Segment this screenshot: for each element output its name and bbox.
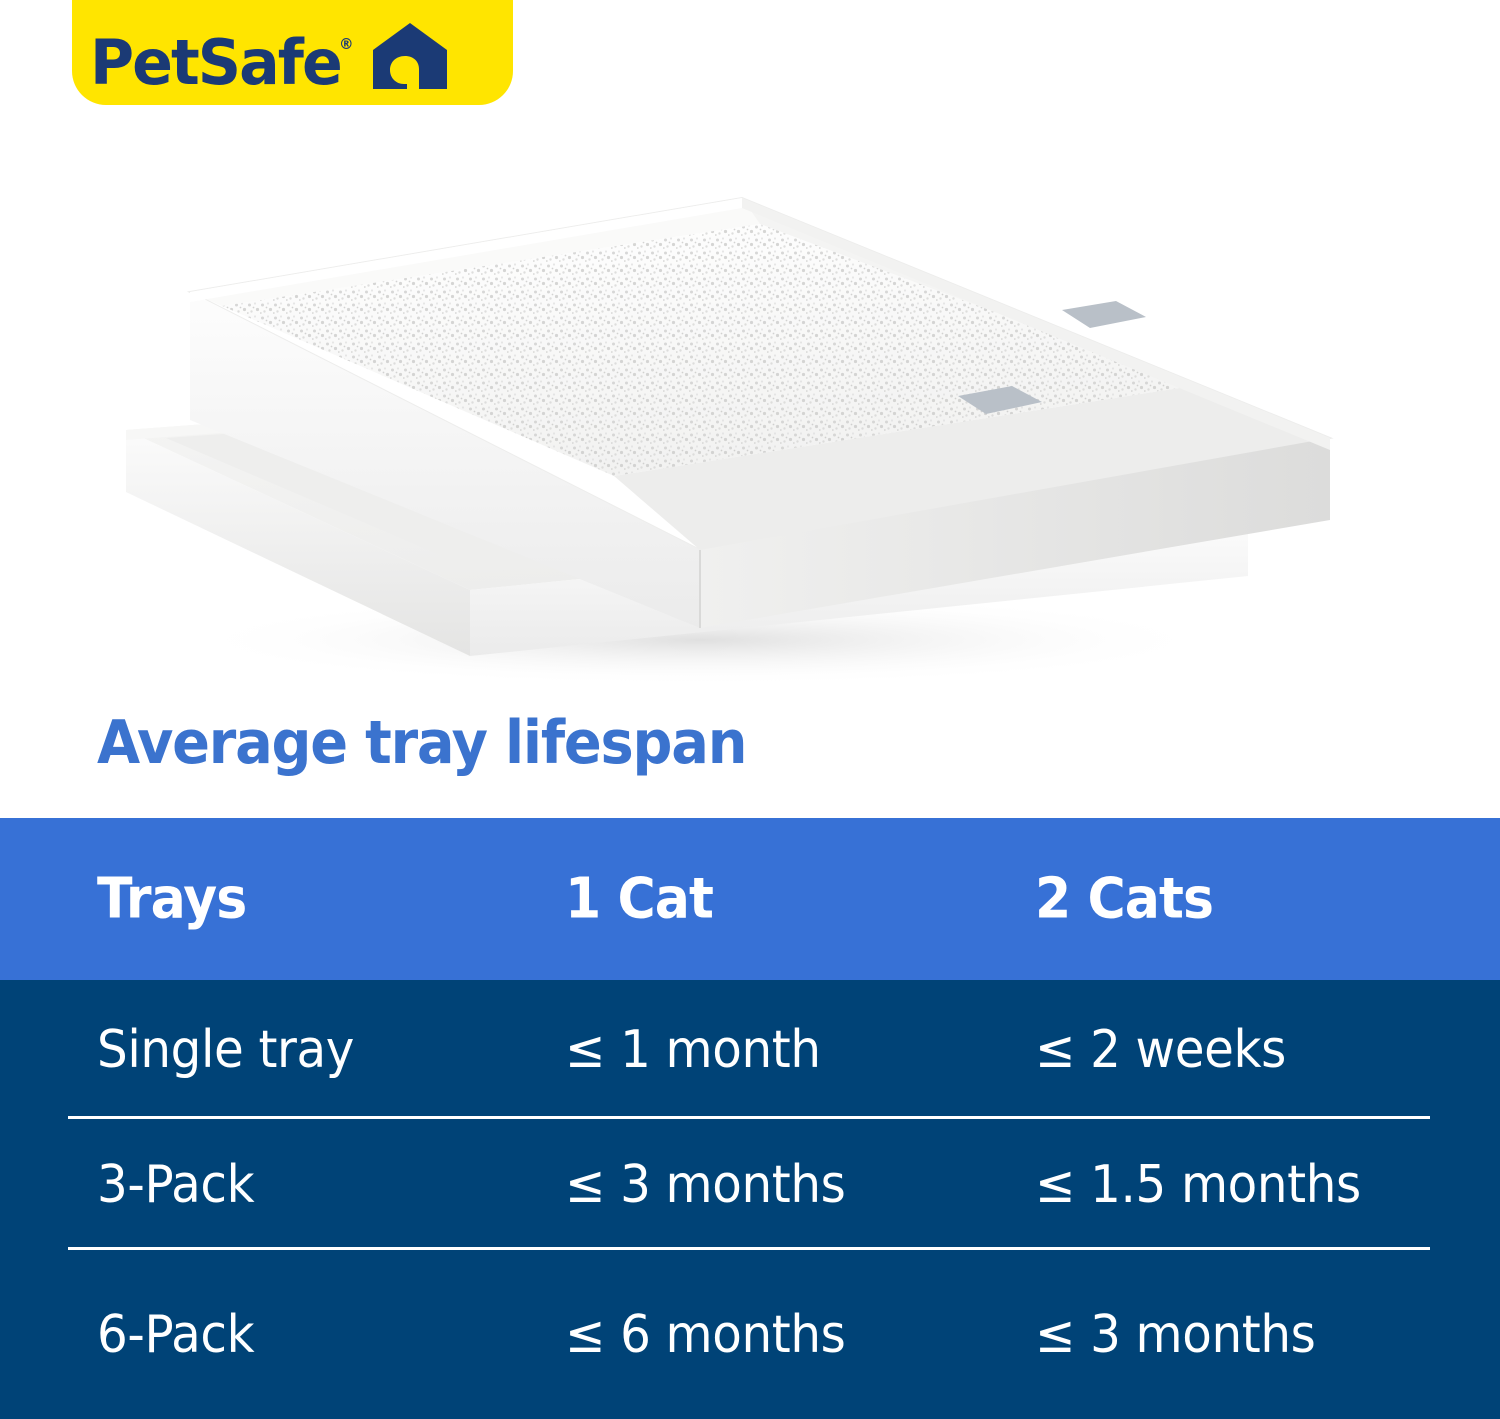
table-row: 3-Pack ≤ 3 months ≤ 1.5 months (0, 1119, 1500, 1250)
brand-wordmark: PetSafe® (90, 34, 341, 91)
cell-one-cat-6pack: ≤ 6 months (565, 1305, 845, 1365)
cell-trays-3pack: 3-Pack (97, 1155, 254, 1215)
registered-trademark-icon: ® (339, 38, 354, 52)
column-header-one-cat: 1 Cat (565, 867, 713, 932)
infographic-page: PetSafe® (0, 0, 1500, 1419)
cell-one-cat-3pack: ≤ 3 months (565, 1155, 845, 1215)
logo-inner: PetSafe® (90, 23, 447, 91)
lifespan-table: Trays 1 Cat 2 Cats Single tray ≤ 1 month… (0, 818, 1500, 1419)
page-title: Average tray lifespan (97, 712, 746, 775)
cell-two-cats-3pack: ≤ 1.5 months (1035, 1155, 1361, 1215)
cell-two-cats-6pack: ≤ 3 months (1035, 1305, 1315, 1365)
column-header-two-cats: 2 Cats (1035, 867, 1213, 932)
cell-two-cats-single: ≤ 2 weeks (1035, 1020, 1286, 1080)
table-body: Single tray ≤ 1 month ≤ 2 weeks 3-Pack ≤… (0, 980, 1500, 1419)
table-header-row: Trays 1 Cat 2 Cats (0, 818, 1500, 980)
doghouse-icon (373, 23, 447, 89)
brand-wordmark-text: PetSafe (90, 26, 341, 99)
cell-one-cat-single: ≤ 1 month (565, 1020, 821, 1080)
product-photo (0, 120, 1500, 700)
column-header-trays: Trays (97, 867, 246, 932)
cell-trays-single: Single tray (97, 1020, 354, 1080)
table-row: Single tray ≤ 1 month ≤ 2 weeks (0, 980, 1500, 1119)
litter-tray-illustration (0, 120, 1500, 700)
petsafe-logo: PetSafe® (72, 0, 513, 105)
cell-trays-6pack: 6-Pack (97, 1305, 254, 1365)
table-row: 6-Pack ≤ 6 months ≤ 3 months (0, 1250, 1500, 1419)
